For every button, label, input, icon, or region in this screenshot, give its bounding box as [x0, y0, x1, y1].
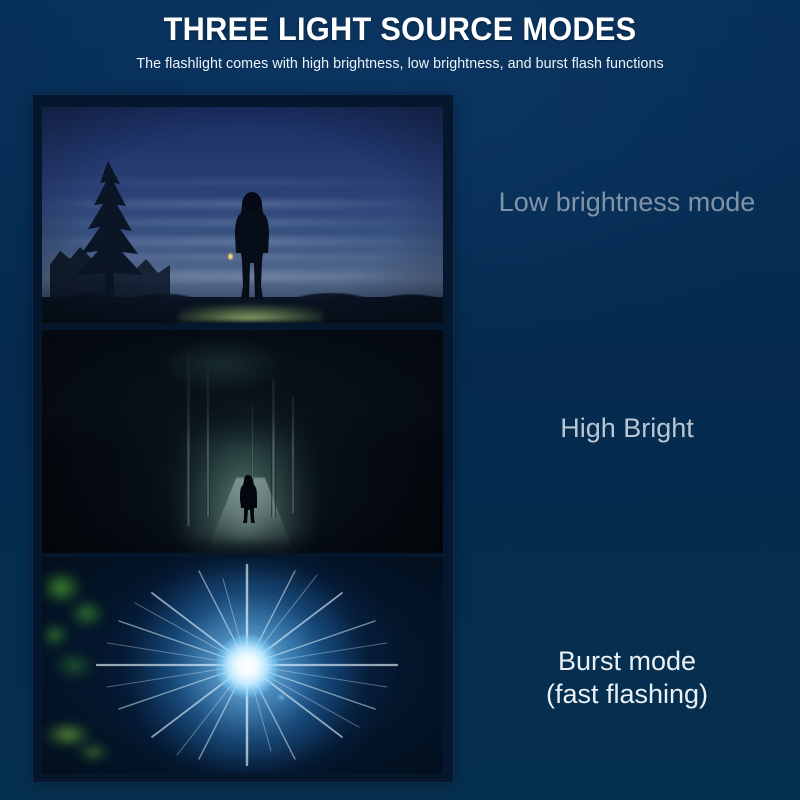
mode-label-text-secondary: (fast flashing) — [462, 678, 792, 711]
flare-core — [216, 635, 278, 697]
mode-label-text: Low brightness mode — [462, 186, 792, 219]
product-feature-page: THREE LIGHT SOURCE MODES The flashlight … — [0, 0, 800, 800]
page-title: THREE LIGHT SOURCE MODES — [16, 0, 784, 47]
pine-tree-silhouette — [50, 155, 170, 305]
hooded-figure-silhouette — [232, 191, 272, 303]
mode-label-low-brightness: Low brightness mode — [462, 186, 792, 219]
mode-label-text: Burst mode — [462, 645, 792, 678]
header: THREE LIGHT SOURCE MODES The flashlight … — [0, 0, 800, 72]
lens-speck — [277, 694, 286, 701]
walking-figure-silhouette — [238, 474, 259, 524]
photo-high-bright-mode — [42, 330, 443, 553]
scene-dusk-hilltop — [42, 107, 443, 323]
photo-low-brightness-mode — [42, 107, 443, 323]
page-subtitle: The flashlight comes with high brightnes… — [6, 47, 794, 72]
lit-ground-patch — [178, 305, 322, 321]
mode-label-text: High Bright — [462, 412, 792, 445]
scene-forest-path — [42, 330, 443, 553]
mode-label-high-bright: High Bright — [462, 412, 792, 445]
mode-label-burst: Burst mode (fast flashing) — [462, 645, 792, 711]
photo-burst-mode — [42, 557, 443, 774]
forest-canopy — [42, 330, 443, 446]
scene-burst-flare — [42, 557, 443, 774]
photo-stack — [42, 107, 443, 774]
